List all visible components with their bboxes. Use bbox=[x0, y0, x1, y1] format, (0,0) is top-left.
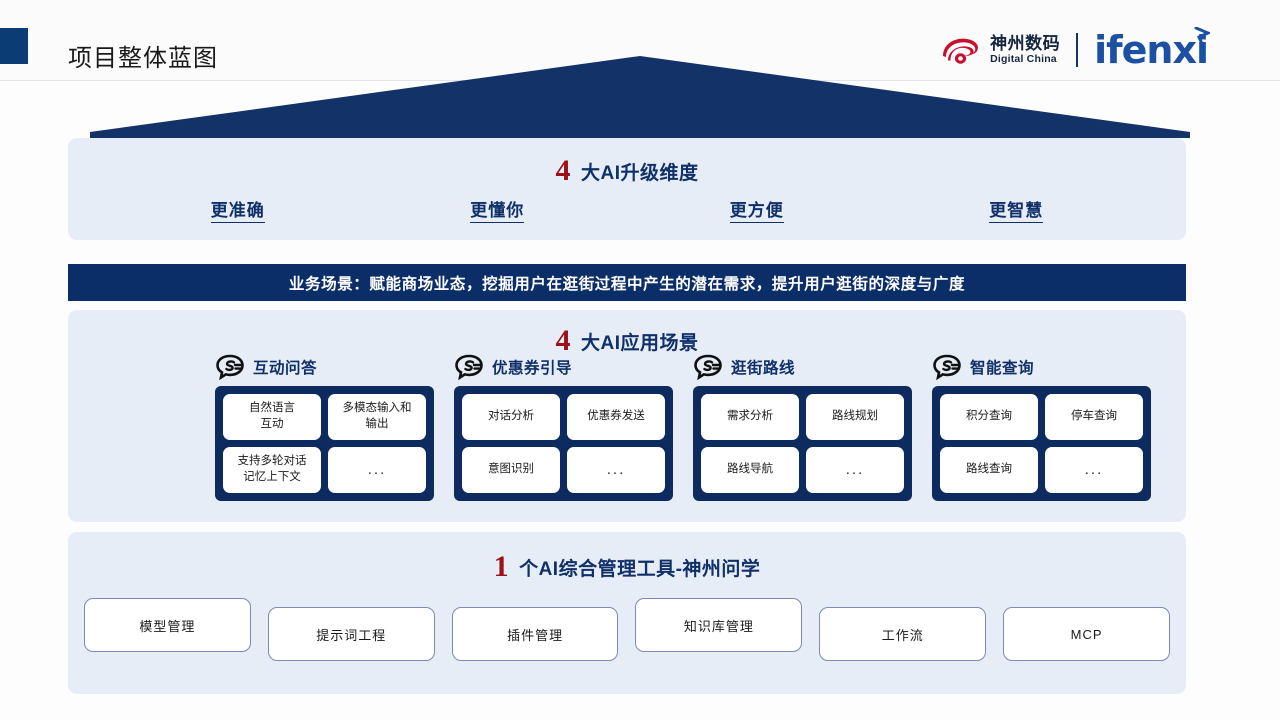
chat-bubble-icon bbox=[693, 354, 723, 380]
scenario-group-title: 互动问答 bbox=[253, 356, 317, 378]
dimensions-list: 更准确 更懂你 更方便 更智慧 bbox=[108, 196, 1146, 221]
scenario-chip[interactable]: 自然语言互动 bbox=[223, 394, 321, 440]
scenario-group-title: 优惠券引导 bbox=[492, 356, 572, 378]
scenario-chip[interactable]: 支持多轮对话记忆上下文 bbox=[223, 447, 321, 493]
ai-scenarios-panel: 4 大AI应用场景 互动问答 自然语言互动 多模态输入和输出 支持多轮对话记忆上 bbox=[68, 310, 1186, 522]
tool-chip-model-management[interactable]: 模型管理 bbox=[84, 598, 251, 652]
chat-bubble-icon bbox=[932, 354, 962, 380]
banner: 从AI智能客服升级到AI服务管家 bbox=[0, 56, 1280, 138]
dimension-item-0[interactable]: 更准确 bbox=[108, 196, 368, 221]
scenario-group-header: 互动问答 bbox=[215, 352, 434, 382]
scenario-chip-box: 自然语言互动 多模态输入和输出 支持多轮对话记忆上下文 ... bbox=[215, 386, 434, 501]
dimension-label: 更智慧 bbox=[989, 201, 1043, 223]
tool-heading: 1 个AI综合管理工具-神州问学 bbox=[68, 550, 1186, 584]
dimension-item-1[interactable]: 更懂你 bbox=[368, 196, 628, 221]
tool-chip-workflow[interactable]: 工作流 bbox=[819, 607, 986, 661]
ifenxi-arrow-icon bbox=[1194, 27, 1210, 47]
tool-chip-prompt-engineering[interactable]: 提示词工程 bbox=[268, 607, 435, 661]
chat-bubble-icon bbox=[454, 354, 484, 380]
tool-chip-row: 模型管理 提示词工程 插件管理 知识库管理 工作流 MCP bbox=[84, 598, 1170, 678]
tool-count: 1 bbox=[494, 550, 509, 583]
slide-canvas: 项目整体蓝图 神州数码 Digital China ifenxi bbox=[0, 0, 1280, 720]
dimensions-heading: 4 大AI升级维度 bbox=[68, 154, 1186, 188]
dimension-item-3[interactable]: 更智慧 bbox=[887, 196, 1147, 221]
scenario-chip-box: 需求分析 路线规划 路线导航 ... bbox=[693, 386, 912, 501]
scenario-group-header: 智能查询 bbox=[932, 352, 1151, 382]
scenario-group-header: 优惠券引导 bbox=[454, 352, 673, 382]
scenario-group-coupon-guide: 优惠券引导 对话分析 优惠券发送 意图识别 ... bbox=[454, 352, 673, 514]
dimension-label: 更准确 bbox=[211, 201, 265, 223]
digital-china-name-cn: 神州数码 bbox=[990, 35, 1060, 52]
scenario-chip[interactable]: 优惠券发送 bbox=[567, 394, 665, 440]
dimension-item-2[interactable]: 更方便 bbox=[627, 196, 887, 221]
scenario-chip[interactable]: 停车查询 bbox=[1045, 394, 1143, 440]
scenario-chip-box: 积分查询 停车查询 路线查询 ... bbox=[932, 386, 1151, 501]
scenario-group-header: 逛街路线 bbox=[693, 352, 912, 382]
scenario-group-interactive-qa: 互动问答 自然语言互动 多模态输入和输出 支持多轮对话记忆上下文 ... bbox=[215, 352, 434, 514]
scenario-chip[interactable]: 需求分析 bbox=[701, 394, 799, 440]
chat-bubble-icon bbox=[215, 354, 245, 380]
dimensions-heading-label: 大AI升级维度 bbox=[581, 163, 699, 184]
dimensions-count: 4 bbox=[556, 154, 571, 187]
dimension-label: 更懂你 bbox=[470, 201, 524, 223]
scenario-group-title: 逛街路线 bbox=[731, 356, 795, 378]
scenario-chip-more[interactable]: ... bbox=[806, 447, 904, 493]
tool-chip-knowledge-base-management[interactable]: 知识库管理 bbox=[635, 598, 802, 652]
ai-management-tool-panel: 1 个AI综合管理工具-神州问学 模型管理 提示词工程 插件管理 知识库管理 工… bbox=[68, 532, 1186, 694]
scenario-chip[interactable]: 意图识别 bbox=[462, 447, 560, 493]
tool-heading-label: 个AI综合管理工具-神州问学 bbox=[519, 559, 760, 580]
scenario-group-title: 智能查询 bbox=[970, 356, 1034, 378]
scenario-chip[interactable]: 路线查询 bbox=[940, 447, 1038, 493]
scenario-chip-box: 对话分析 优惠券发送 意图识别 ... bbox=[454, 386, 673, 501]
scenario-chip-more[interactable]: ... bbox=[567, 447, 665, 493]
scenario-chip-more[interactable]: ... bbox=[1045, 447, 1143, 493]
business-scenario-bar: 业务场景：赋能商场业态，挖掘用户在逛街过程中产生的潜在需求，提升用户逛街的深度与… bbox=[68, 264, 1186, 301]
tool-chip-mcp[interactable]: MCP bbox=[1003, 607, 1170, 661]
banner-chevron-shape bbox=[0, 56, 1280, 138]
scenario-group-shopping-route: 逛街路线 需求分析 路线规划 路线导航 ... bbox=[693, 352, 912, 514]
scenario-chip[interactable]: 多模态输入和输出 bbox=[328, 394, 426, 440]
ai-dimensions-panel: 4 大AI升级维度 更准确 更懂你 更方便 更智慧 bbox=[68, 138, 1186, 240]
scenario-groups: 互动问答 自然语言互动 多模态输入和输出 支持多轮对话记忆上下文 ... bbox=[215, 352, 1153, 514]
scenario-chip[interactable]: 路线规划 bbox=[806, 394, 904, 440]
dimension-label: 更方便 bbox=[730, 201, 784, 223]
scenarios-heading-label: 大AI应用场景 bbox=[581, 333, 699, 354]
scenario-chip-more[interactable]: ... bbox=[328, 447, 426, 493]
scenario-chip[interactable]: 路线导航 bbox=[701, 447, 799, 493]
tool-chip-plugin-management[interactable]: 插件管理 bbox=[452, 607, 619, 661]
business-scenario-text: 业务场景：赋能商场业态，挖掘用户在逛街过程中产生的潜在需求，提升用户逛街的深度与… bbox=[289, 272, 965, 294]
scenario-chip[interactable]: 积分查询 bbox=[940, 394, 1038, 440]
scenario-chip[interactable]: 对话分析 bbox=[462, 394, 560, 440]
scenario-group-smart-query: 智能查询 积分查询 停车查询 路线查询 ... bbox=[932, 352, 1151, 514]
